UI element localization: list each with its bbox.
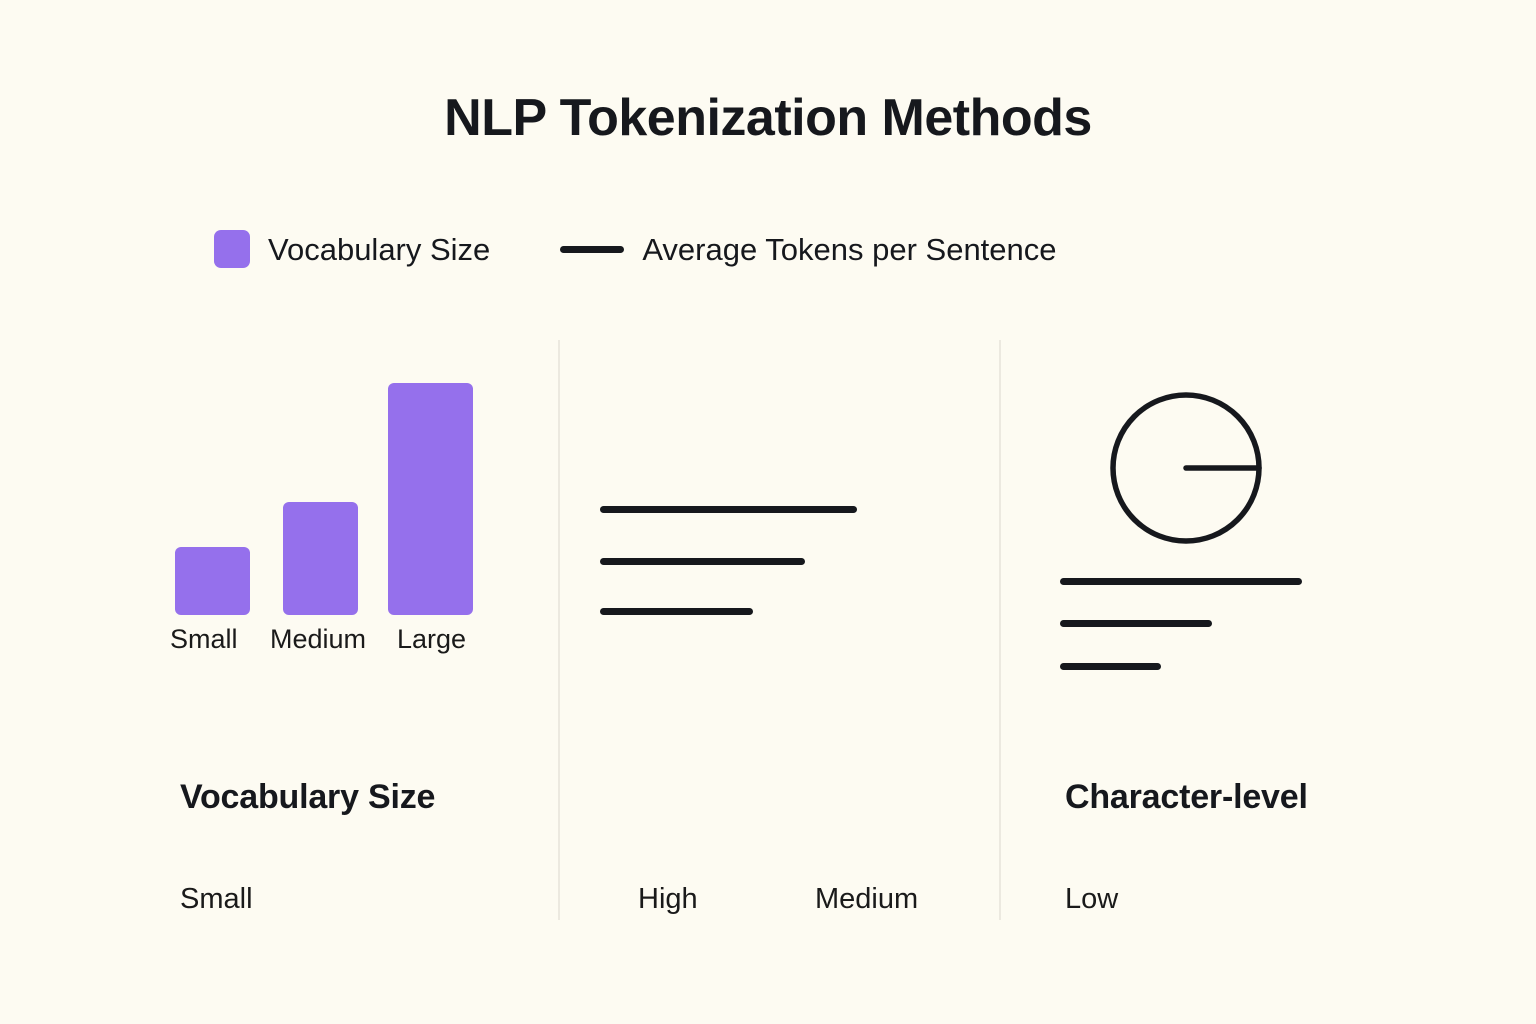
- text-line: [1060, 578, 1302, 585]
- bar-large[interactable]: [388, 383, 473, 615]
- legend-label: Average Tokens per Sentence: [642, 234, 1056, 265]
- panel-sub-label: Medium: [815, 885, 918, 914]
- bar-tick-label: Medium: [270, 622, 366, 657]
- panel-sub-label: Small: [180, 885, 253, 914]
- panel-divider: [558, 340, 560, 920]
- legend: Vocabulary Size Average Tokens per Sente…: [214, 224, 1057, 274]
- bar-small[interactable]: [175, 547, 250, 615]
- bar-chart-icon: [175, 340, 495, 615]
- legend-label: Vocabulary Size: [268, 234, 490, 265]
- panel-heading: Vocabulary Size: [180, 780, 435, 814]
- bar-axis-labels: Small Medium Large: [175, 622, 505, 658]
- text-line: [1060, 620, 1212, 627]
- legend-swatch-icon: [214, 230, 250, 268]
- legend-dash-icon: [560, 246, 624, 253]
- pie-circle-icon: [1108, 390, 1264, 546]
- panel-sub-label: Low: [1065, 885, 1118, 914]
- panel-vocabulary-size: Small Medium Large Vocabulary Size Small: [175, 340, 535, 940]
- text-line: [600, 558, 805, 565]
- panel-character-level: Character-level Low: [1060, 340, 1460, 940]
- legend-item-average-tokens[interactable]: Average Tokens per Sentence: [560, 234, 1056, 265]
- text-line: [600, 608, 753, 615]
- page-title: NLP Tokenization Methods: [0, 92, 1536, 144]
- panel-sub-label: High: [638, 885, 698, 914]
- legend-item-vocabulary-size[interactable]: Vocabulary Size: [214, 230, 490, 268]
- infographic-canvas: NLP Tokenization Methods Vocabulary Size…: [0, 0, 1536, 1024]
- bar-tick-label: Large: [397, 622, 466, 657]
- bar-tick-label: Small: [170, 622, 238, 657]
- panel-heading: Character-level: [1065, 780, 1308, 814]
- text-line: [600, 506, 857, 513]
- bar-medium[interactable]: [283, 502, 358, 615]
- panel-tokens-per-sentence: High Medium: [600, 340, 980, 940]
- text-line: [1060, 663, 1161, 670]
- panel-divider: [999, 340, 1001, 920]
